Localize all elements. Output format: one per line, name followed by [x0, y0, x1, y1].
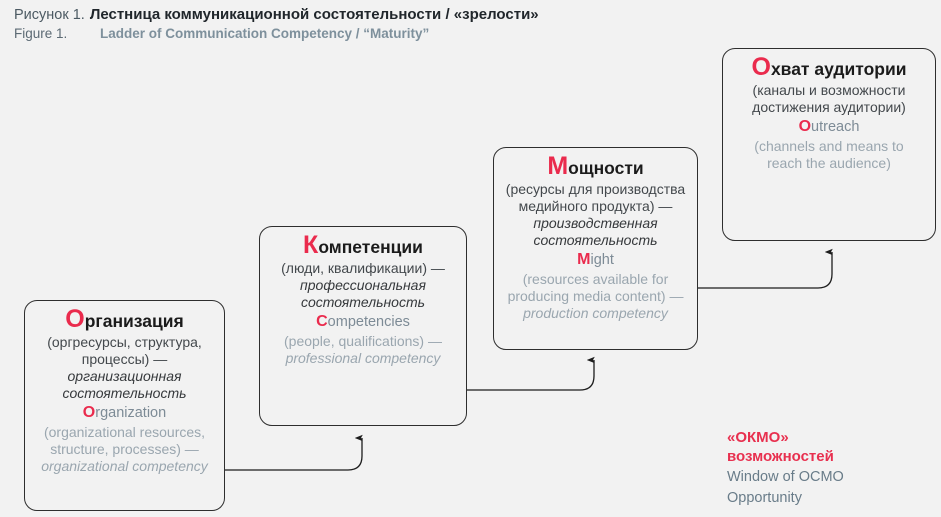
step-emphasis-ru-line2: состоятельность	[269, 294, 457, 311]
step-title-en-rest: ight	[590, 252, 613, 268]
step-title-en-rest: rganization	[95, 405, 166, 421]
step-title-en-rest: ompetencies	[328, 314, 410, 330]
step-emphasis-ru-line2: состоятельность	[503, 232, 688, 249]
legend-en-line2: Opportunity	[727, 489, 932, 508]
step-emphasis-ru-line1: производственная	[503, 215, 688, 232]
step-title-outreach: Охват аудитории	[732, 57, 926, 80]
step-desc-en-line1: (organizational resources,	[34, 424, 215, 441]
step-desc-en-line2: structure, processes) —	[34, 441, 215, 458]
connector-organization-to-competencies	[225, 438, 362, 470]
step-desc-ru-line2: процессы) —	[34, 351, 215, 368]
connector-competencies-to-might	[467, 360, 594, 390]
legend-ru-line2: возможностей	[727, 447, 932, 466]
figure-number-en: Figure 1.	[14, 26, 100, 41]
connector-might-to-outreach	[698, 252, 832, 288]
accent-initial: К	[303, 231, 318, 259]
step-title-competencies: Компетенции	[269, 235, 457, 258]
step-emphasis-ru-line1: организационная	[34, 368, 215, 385]
step-desc-ru-line1: (каналы и возможности	[732, 82, 926, 99]
accent-initial-en: M	[577, 251, 590, 268]
figure-caption-en: Figure 1. Ladder of Communication Compet…	[14, 26, 924, 41]
legend-okmo-window: «ОКМО» возможностей Window of OCMO Oppor…	[727, 428, 932, 508]
step-desc-en-line1: (people, qualifications) —	[269, 333, 457, 350]
step-desc-en-line1: (resources available for	[503, 271, 688, 288]
step-desc-ru-line2: достижения аудитории)	[732, 99, 926, 116]
step-title-en-competencies: Competencies	[269, 312, 457, 333]
step-title-en-outreach: Outreach	[732, 117, 926, 138]
step-title-rest: рганизация	[85, 311, 184, 331]
step-emphasis-ru-line2: состоятельность	[34, 385, 215, 402]
step-box-organization[interactable]: Организация (оргресурсы, структура, проц…	[24, 300, 225, 511]
legend-en-line1: Window of OCMO	[727, 468, 932, 487]
step-title-rest: хват аудитории	[771, 59, 907, 79]
accent-initial: О	[65, 305, 84, 333]
step-title-en-rest: utreach	[811, 119, 859, 135]
figure-canvas: Рисунок 1. Лестница коммуникационной сос…	[0, 0, 941, 517]
accent-initial-en: C	[316, 313, 328, 330]
accent-initial-en: O	[799, 118, 811, 135]
step-desc-ru-line1: (оргресурсы, структура,	[34, 334, 215, 351]
step-box-might[interactable]: Мощности (ресурсы для производства медий…	[493, 147, 698, 350]
figure-caption-ru: Рисунок 1. Лестница коммуникационной сос…	[14, 6, 924, 23]
figure-title-ru: Лестница коммуникационной состоятельност…	[90, 6, 539, 23]
step-box-competencies[interactable]: Компетенции (люди, квалификации) — профе…	[259, 226, 467, 426]
accent-initial: М	[547, 152, 568, 180]
step-title-en-organization: Organization	[34, 403, 215, 424]
accent-initial-en: O	[83, 404, 95, 421]
step-desc-ru-line2: медийного продукта) —	[503, 198, 688, 215]
step-title-en-might: Might	[503, 250, 688, 271]
step-desc-ru-line1: (ресурсы для производства	[503, 181, 688, 198]
step-title-organization: Организация	[34, 309, 215, 332]
step-box-outreach[interactable]: Охват аудитории (каналы и возможности до…	[722, 48, 936, 241]
step-emphasis-en-line1: organizational competency	[34, 458, 215, 475]
step-desc-en-line2: producing media content) —	[503, 288, 688, 305]
accent-initial: О	[751, 53, 770, 81]
step-title-rest: ощности	[568, 158, 644, 178]
step-desc-ru-line1: (люди, квалификации) —	[269, 260, 457, 277]
figure-number-ru: Рисунок 1.	[14, 7, 85, 23]
legend-ru-line1: «ОКМО»	[727, 428, 932, 447]
step-desc-en-line2: reach the audience)	[732, 155, 926, 172]
step-title-might: Мощности	[503, 156, 688, 179]
figure-title-en: Ladder of Communication Competency / “Ma…	[100, 26, 429, 41]
step-emphasis-ru-line1: профессиональная	[269, 277, 457, 294]
figure-caption: Рисунок 1. Лестница коммуникационной сос…	[14, 6, 924, 41]
step-emphasis-en-line1: production competency	[503, 305, 688, 322]
step-emphasis-en-line1: professional competency	[269, 350, 457, 367]
step-desc-en-line1: (channels and means to	[732, 138, 926, 155]
step-title-rest: омпетенции	[318, 237, 423, 257]
